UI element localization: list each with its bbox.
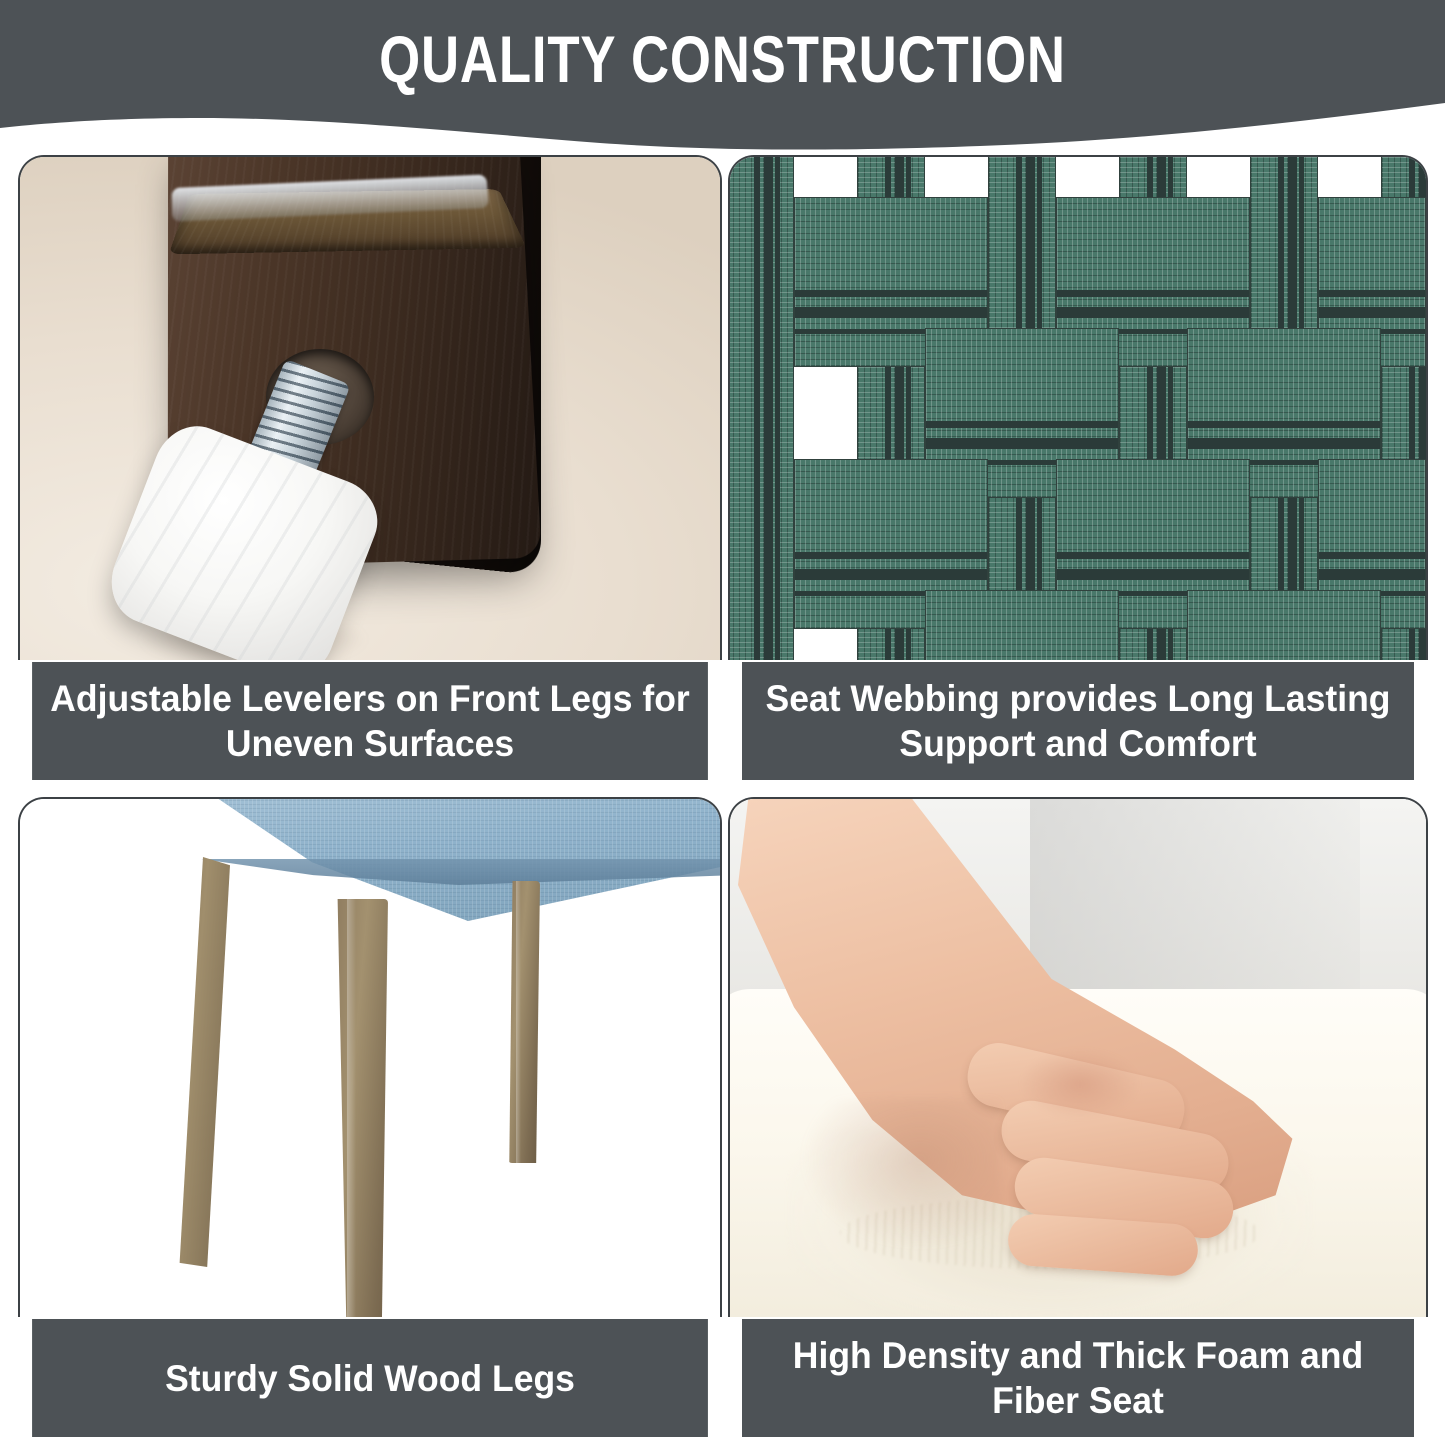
wood-legs-photo xyxy=(18,797,722,1317)
header-banner: QUALITY CONSTRUCTION xyxy=(0,0,1445,155)
knuckle-shading xyxy=(1020,1049,1140,1119)
webbing-strap xyxy=(730,157,794,660)
webbing-stripe xyxy=(764,157,773,660)
webbing-stripe xyxy=(795,552,987,559)
webbing-stripe xyxy=(1057,569,1249,580)
leveler-photo xyxy=(18,155,722,660)
webbing-stripe xyxy=(1057,290,1249,297)
webbing-stripe xyxy=(1188,438,1380,449)
feature-panel-adjustable-levelers: Adjustable Levelers on Front Legs for Un… xyxy=(18,155,722,780)
webbing-strap xyxy=(925,590,1119,660)
leg-sheen xyxy=(516,881,521,1163)
feature-panel-solid-wood-legs: Sturdy Solid Wood Legs xyxy=(18,797,722,1437)
webbing-stripe xyxy=(775,157,780,660)
webbing-stripe xyxy=(795,569,987,580)
webbing-stripe xyxy=(926,421,1118,428)
caption-text: Adjustable Levelers on Front Legs for Un… xyxy=(46,676,695,766)
webbing-photo xyxy=(728,155,1428,660)
page-root: QUALITY CONSTRUCTION xyxy=(0,0,1445,1445)
webbing-stripe xyxy=(795,290,987,297)
caption-bar-high-density-foam: High Density and Thick Foam and Fiber Se… xyxy=(742,1319,1414,1437)
webbing-strap xyxy=(1187,590,1381,660)
webbing-stripe xyxy=(1319,552,1425,559)
caption-text: High Density and Thick Foam and Fiber Se… xyxy=(755,1333,1400,1423)
webbing-stripe xyxy=(1057,307,1249,318)
webbing-stripe xyxy=(795,307,987,318)
webbing-stripe xyxy=(1319,290,1425,297)
feature-grid: Adjustable Levelers on Front Legs for Un… xyxy=(0,155,1445,1445)
caption-bar-solid-wood-legs: Sturdy Solid Wood Legs xyxy=(32,1319,708,1437)
webbing-stripe xyxy=(754,157,760,660)
feature-panel-high-density-foam: High Density and Thick Foam and Fiber Se… xyxy=(728,797,1428,1437)
webbing-stripe xyxy=(1188,421,1380,428)
webbing-stripe xyxy=(926,438,1118,449)
chair-leg-center-front xyxy=(332,899,388,1317)
woven-webbing-pattern xyxy=(730,157,1426,660)
thumb-shading xyxy=(800,1099,1000,1249)
webbing-stripe xyxy=(1057,552,1249,559)
webbing-stripe xyxy=(1319,307,1425,318)
caption-text: Sturdy Solid Wood Legs xyxy=(46,1356,695,1401)
foam-photo xyxy=(728,797,1428,1317)
caption-bar-adjustable-levelers: Adjustable Levelers on Front Legs for Un… xyxy=(32,662,708,780)
leg-sheen xyxy=(347,899,356,1317)
chair-leg-left-curved xyxy=(170,857,230,1267)
webbing-stripe xyxy=(1319,569,1425,580)
page-title: QUALITY CONSTRUCTION xyxy=(145,26,1301,92)
caption-text: Seat Webbing provides Long Lasting Suppo… xyxy=(755,676,1400,766)
caption-bar-seat-webbing: Seat Webbing provides Long Lasting Suppo… xyxy=(742,662,1414,780)
chair-leg-right-back xyxy=(508,881,540,1163)
feature-panel-seat-webbing: Seat Webbing provides Long Lasting Suppo… xyxy=(728,155,1428,780)
